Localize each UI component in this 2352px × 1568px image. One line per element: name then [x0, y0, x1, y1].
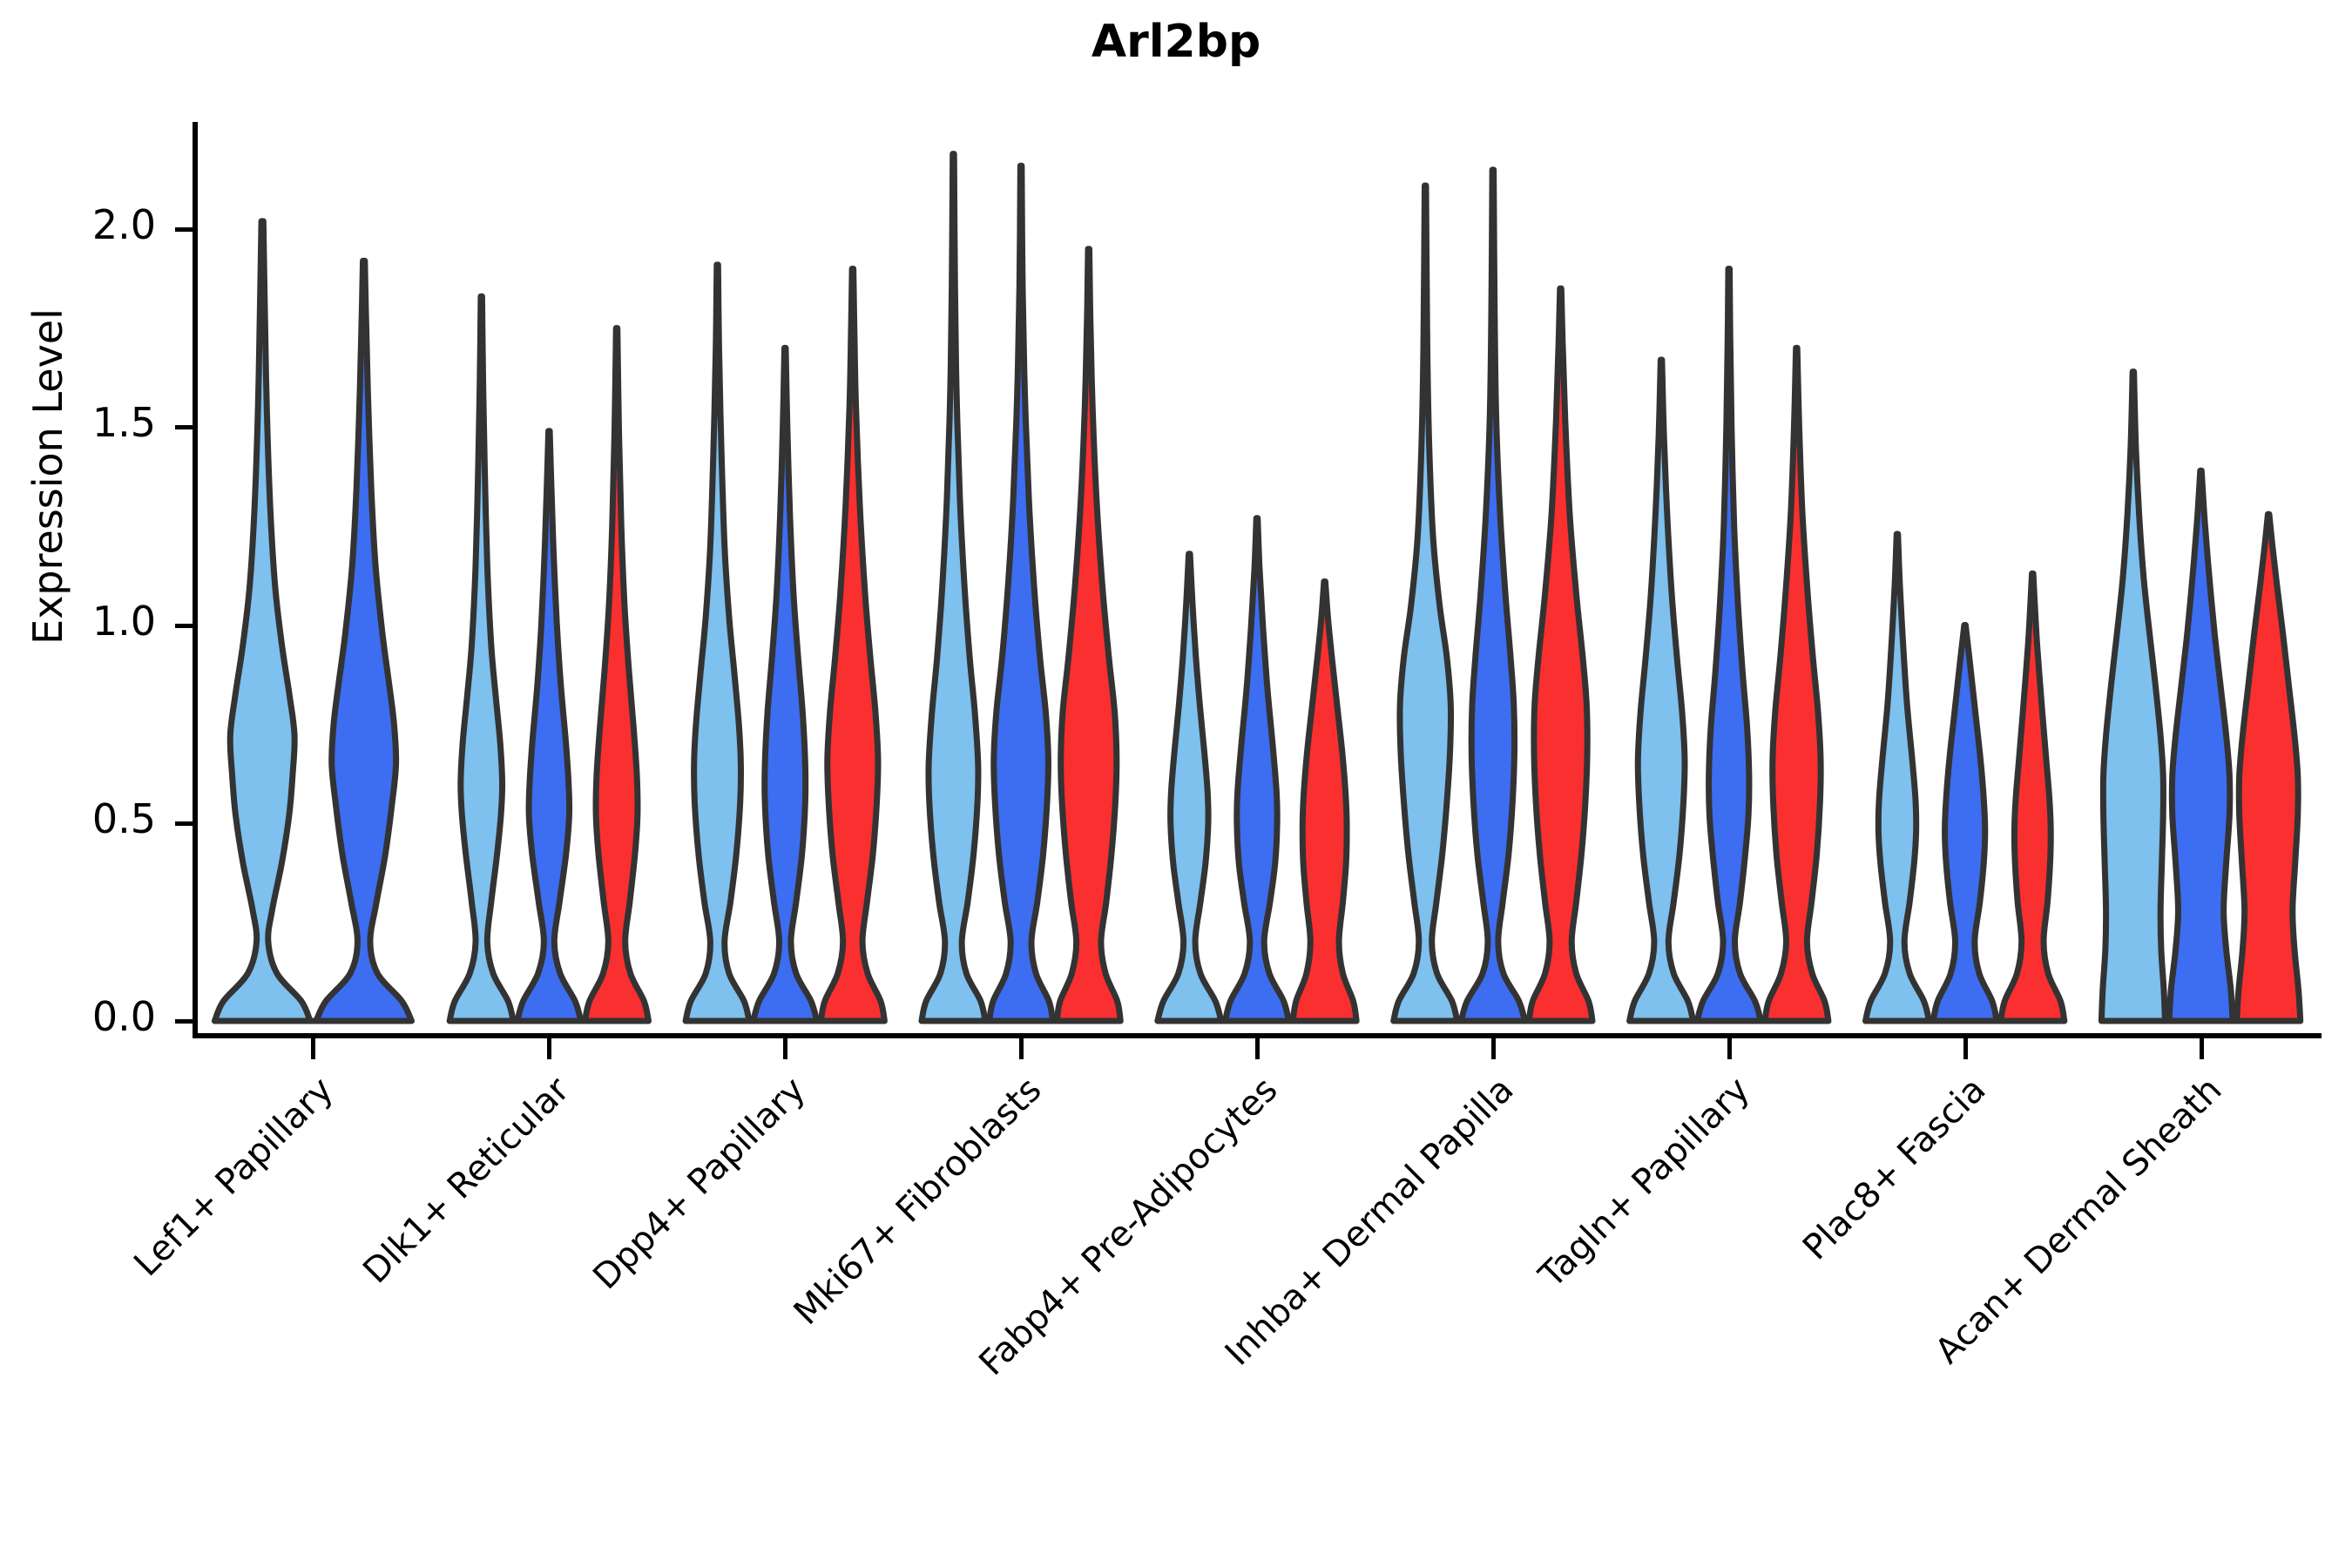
- violin-shape: [1158, 554, 1221, 1021]
- violin-shape: [2001, 573, 2065, 1021]
- violin-shape: [1461, 170, 1524, 1021]
- violin-shape: [1933, 625, 1997, 1022]
- x-tick-label: Plac8+ Fascia: [1595, 1070, 1993, 1468]
- x-tick-mark: [1019, 1038, 1024, 1059]
- violin-shape: [1057, 249, 1120, 1021]
- violin-group: [686, 265, 885, 1021]
- x-tick-mark: [1727, 1038, 1732, 1059]
- x-tick-mark: [311, 1038, 315, 1059]
- y-tick-mark: [175, 425, 193, 429]
- y-tick-label: 2.0: [51, 201, 156, 248]
- violin-shape: [1630, 360, 1693, 1021]
- x-tick-label: Lef1+ Papillary: [0, 1070, 341, 1468]
- violin-group: [1629, 268, 1828, 1021]
- x-tick-mark: [1255, 1038, 1260, 1059]
- y-tick-label: 0.0: [51, 993, 156, 1040]
- violin-plot-figure: Arl2bp Expression Level 0.00.51.01.52.0 …: [0, 0, 2352, 1568]
- violin-shape: [449, 296, 513, 1021]
- y-tick-label: 1.0: [51, 598, 156, 645]
- x-tick-label: Acan+ Dermal Sheath: [1831, 1070, 2229, 1468]
- violin-group: [1865, 534, 2065, 1021]
- y-tick-mark: [175, 624, 193, 628]
- y-tick-mark: [175, 227, 193, 232]
- violin-shape: [754, 348, 817, 1021]
- violin-shape: [585, 328, 648, 1021]
- violin-shape: [214, 221, 310, 1021]
- violin-group: [449, 296, 649, 1021]
- page-title: Arl2bp: [0, 16, 2352, 68]
- violin-shape: [1865, 534, 1929, 1021]
- violin-shape: [1529, 288, 1592, 1021]
- x-tick-label: Dpp4+ Papillary: [416, 1070, 814, 1468]
- violin-shape: [316, 260, 412, 1021]
- violin-shape: [1697, 268, 1761, 1021]
- x-tick-label: Mki67+ Fibroblasts: [652, 1070, 1050, 1468]
- x-tick-label: Dlk1+ Reticular: [179, 1070, 578, 1468]
- violin-group: [922, 154, 1121, 1021]
- violin-group: [1157, 518, 1356, 1021]
- x-tick-mark: [783, 1038, 787, 1059]
- violin-group: [1393, 170, 1592, 1021]
- violin-canvas: [0, 0, 2352, 1568]
- violin-group: [214, 221, 412, 1021]
- violin-shape: [2101, 372, 2165, 1021]
- violin-shape: [1765, 348, 1828, 1021]
- violin-shape: [2237, 514, 2301, 1021]
- y-tick-mark: [175, 821, 193, 826]
- violin-shape: [990, 166, 1053, 1021]
- violin-shape: [1293, 582, 1356, 1022]
- y-tick-label: 0.5: [51, 795, 156, 842]
- violin-shape: [517, 431, 581, 1021]
- violin-shape: [1225, 518, 1288, 1021]
- violin-shape: [1394, 186, 1457, 1021]
- x-tick-mark: [1963, 1038, 1968, 1059]
- violin-shape: [2169, 470, 2233, 1021]
- x-tick-label: Tagln+ Papillary: [1360, 1070, 1758, 1468]
- y-tick-label: 1.5: [51, 399, 156, 446]
- y-axis-spine: [193, 122, 198, 1033]
- x-tick-mark: [2200, 1038, 2204, 1059]
- violin-shape: [922, 154, 985, 1021]
- violin-shape: [821, 268, 884, 1021]
- violin-shape: [686, 265, 749, 1021]
- x-tick-label: Inhba+ Dermal Papilla: [1124, 1070, 1522, 1468]
- x-tick-label: Fabp4+ Pre-Adipocytes: [888, 1070, 1286, 1468]
- violin-group: [2101, 372, 2301, 1021]
- x-tick-mark: [547, 1038, 551, 1059]
- y-tick-mark: [175, 1019, 193, 1024]
- x-tick-mark: [1491, 1038, 1496, 1059]
